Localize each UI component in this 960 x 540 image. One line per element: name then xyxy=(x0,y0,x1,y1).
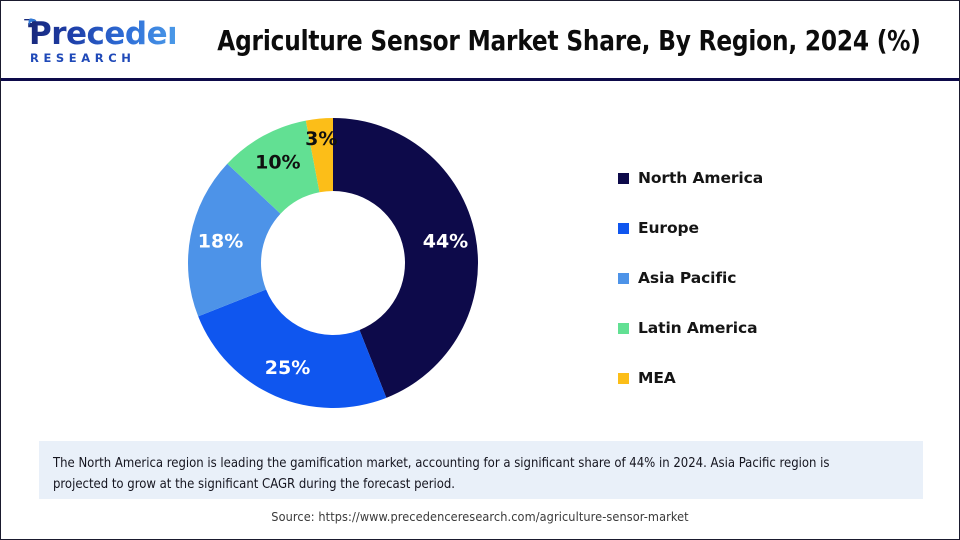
logo-word-text: Precedence xyxy=(29,16,227,52)
caption-text: The North America region is leading the … xyxy=(53,453,883,495)
legend-item[interactable]: North America xyxy=(618,153,878,203)
page-title: Agriculture Sensor Market Share, By Regi… xyxy=(221,1,917,81)
donut-slices xyxy=(188,118,478,408)
legend-swatch xyxy=(618,173,629,184)
legend-label: MEA xyxy=(638,369,676,387)
donut-svg: 44%25%18%10%3% xyxy=(188,118,478,408)
slice-value-label: 18% xyxy=(198,231,243,253)
chart-legend: North AmericaEuropeAsia PacificLatin Ame… xyxy=(618,153,878,403)
slice-value-label: 44% xyxy=(423,231,468,253)
legend-item[interactable]: Asia Pacific xyxy=(618,253,878,303)
logo-wordmark: Precedence xyxy=(15,18,175,50)
slice-value-label: 3% xyxy=(305,128,337,150)
leaf-icon xyxy=(23,18,38,35)
legend-swatch xyxy=(618,373,629,384)
legend-item[interactable]: Europe xyxy=(618,203,878,253)
legend-label: North America xyxy=(638,169,763,187)
donut-slice[interactable] xyxy=(198,290,386,408)
header: Precedence RESEARCH Agriculture Sensor M… xyxy=(1,1,959,81)
logo-subtext: RESEARCH xyxy=(15,51,175,65)
legend-item[interactable]: MEA xyxy=(618,353,878,403)
slice-value-label: 10% xyxy=(255,152,300,174)
legend-swatch xyxy=(618,323,629,334)
legend-label: Europe xyxy=(638,219,699,237)
precedence-research-logo: Precedence RESEARCH xyxy=(15,15,175,67)
source-line: Source: https://www.precedenceresearch.c… xyxy=(1,509,959,524)
legend-swatch xyxy=(618,273,629,284)
chart-page: Precedence RESEARCH Agriculture Sensor M… xyxy=(0,0,960,540)
slice-value-label: 25% xyxy=(265,357,310,379)
legend-item[interactable]: Latin America xyxy=(618,303,878,353)
legend-label: Latin America xyxy=(638,319,757,337)
legend-swatch xyxy=(618,223,629,234)
legend-label: Asia Pacific xyxy=(638,269,736,287)
chart-area: 44%25%18%10%3% North AmericaEuropeAsia P… xyxy=(1,85,959,433)
donut-chart: 44%25%18%10%3% xyxy=(188,118,478,408)
caption-box: The North America region is leading the … xyxy=(39,441,923,499)
